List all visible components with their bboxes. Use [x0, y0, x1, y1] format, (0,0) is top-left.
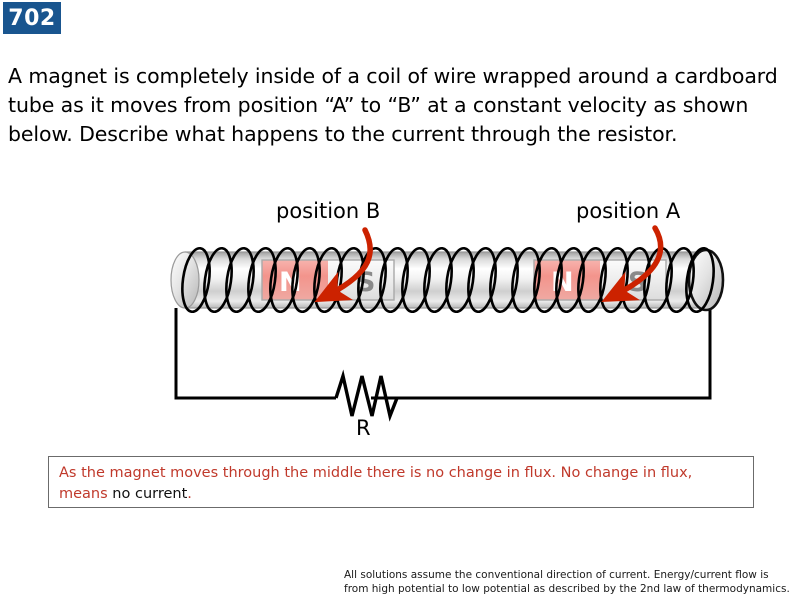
circuit-wires: [176, 308, 710, 398]
answer-box: As the magnet moves through the middle t…: [48, 456, 754, 508]
answer-part-red-2: .: [187, 486, 192, 502]
footer-disclaimer: All solutions assume the conventional di…: [344, 568, 796, 596]
resistor-symbol: [336, 376, 397, 416]
resistor-label: R: [356, 416, 371, 440]
footer-line-2: from high potential to low potential as …: [344, 582, 796, 596]
footer-line-1: All solutions assume the conventional di…: [344, 568, 796, 582]
position-a-label: position A: [576, 199, 681, 223]
slide-number-badge: 702: [3, 2, 61, 34]
answer-text: As the magnet moves through the middle t…: [59, 463, 743, 505]
physics-diagram: R N S: [0, 190, 800, 450]
slide-root: 702 A magnet is completely inside of a c…: [0, 0, 800, 600]
position-b-label: position B: [276, 199, 380, 223]
answer-part-emphasis: no current: [112, 486, 187, 502]
slide-number-text: 702: [8, 6, 55, 31]
question-text: A magnet is completely inside of a coil …: [8, 62, 792, 149]
